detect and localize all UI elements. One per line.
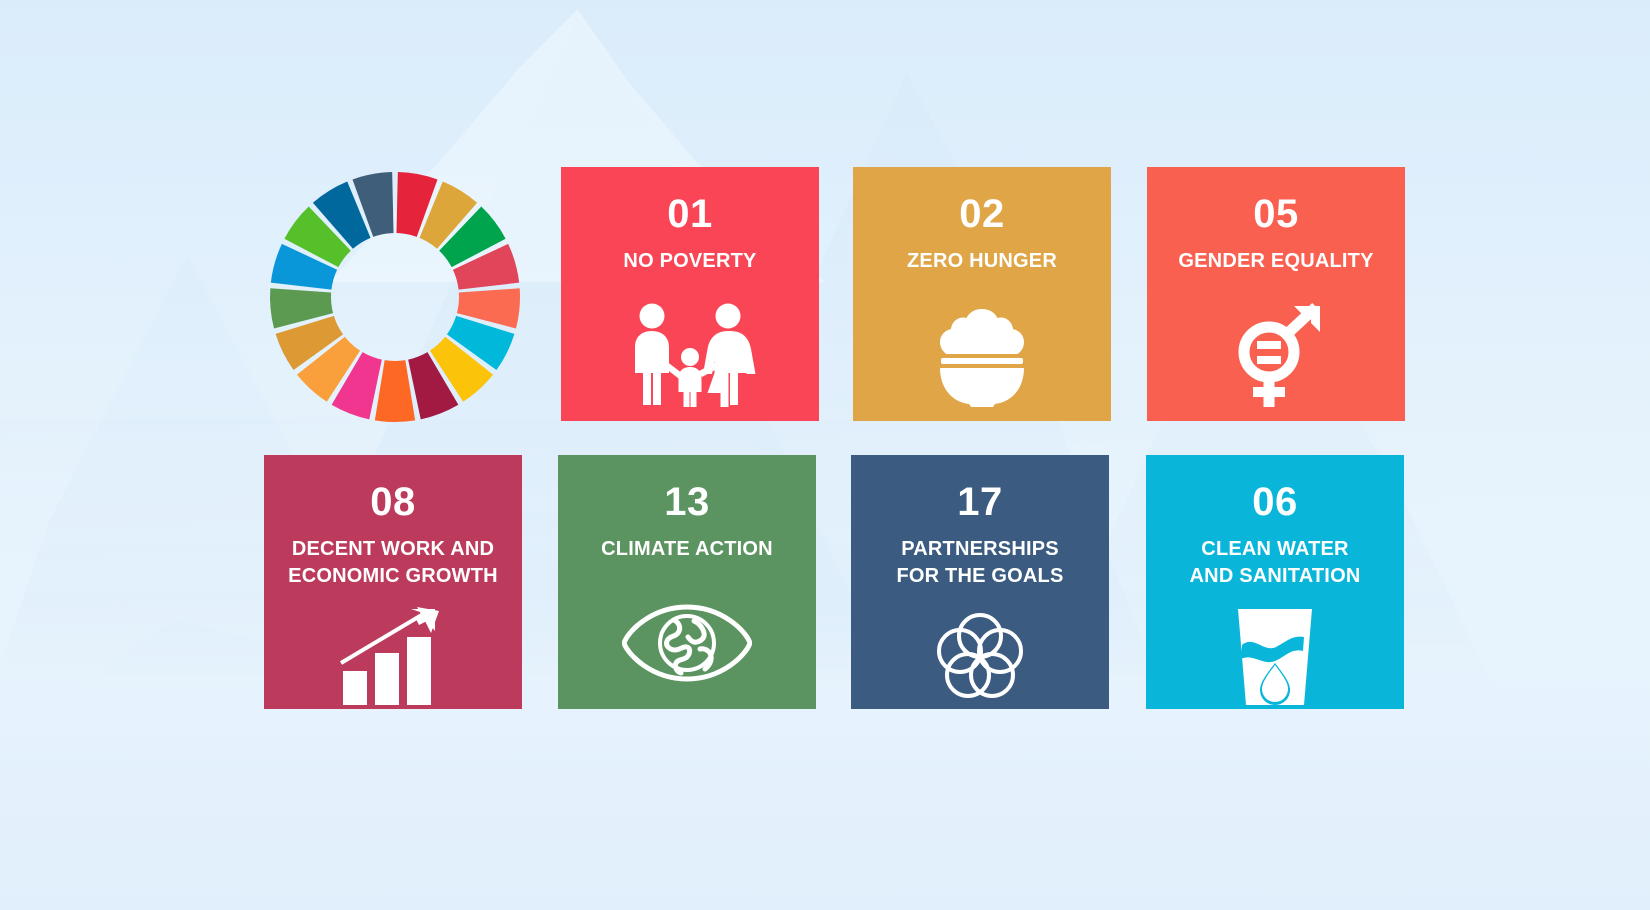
goal-card-06[interactable]: 06CLEAN WATER AND SANITATION: [1146, 455, 1404, 709]
goal-title: CLIMATE ACTION: [601, 536, 773, 563]
goal-card-05[interactable]: 05GENDER EQUALITY: [1147, 167, 1405, 421]
goal-number: 02: [959, 194, 1005, 234]
goal-title: ZERO HUNGER: [907, 248, 1057, 275]
goal-card-01[interactable]: 01NO POVERTY: [561, 167, 819, 421]
goal-number: 17: [957, 482, 1003, 522]
goal-card-02[interactable]: 02ZERO HUNGER: [853, 167, 1111, 421]
growth-bar-chart-arrow-icon: [339, 604, 447, 709]
goal-card-17[interactable]: 17PARTNERSHIPS FOR THE GOALS: [851, 455, 1109, 709]
eye-earth-icon: [622, 577, 752, 709]
interlocking-circles-icon: [932, 604, 1028, 709]
goal-title: PARTNERSHIPS FOR THE GOALS: [896, 536, 1063, 590]
sdg-wheel-segment-9: [375, 360, 415, 422]
sdg-color-wheel: [265, 167, 525, 427]
sdg-board: 01NO POVERTY 02ZERO HUNGER 05GENDER EQUA…: [0, 0, 1650, 910]
goal-title: DECENT WORK AND ECONOMIC GROWTH: [288, 536, 498, 590]
goal-number: 08: [370, 482, 416, 522]
goal-title: CLEAN WATER AND SANITATION: [1190, 536, 1361, 590]
goal-number: 05: [1253, 194, 1299, 234]
goal-card-08[interactable]: 08DECENT WORK AND ECONOMIC GROWTH: [264, 455, 522, 709]
goal-number: 13: [664, 482, 710, 522]
goal-card-13[interactable]: 13CLIMATE ACTION: [558, 455, 816, 709]
goal-title: GENDER EQUALITY: [1178, 248, 1373, 275]
goal-title: NO POVERTY: [623, 248, 756, 275]
goal-number: 06: [1252, 482, 1298, 522]
gender-equality-symbol-icon: [1224, 289, 1328, 421]
water-glass-droplet-icon: [1232, 604, 1318, 709]
rice-bowl-icon: [927, 289, 1037, 421]
goal-number: 01: [667, 194, 713, 234]
family-holding-hands-icon: [621, 289, 759, 421]
